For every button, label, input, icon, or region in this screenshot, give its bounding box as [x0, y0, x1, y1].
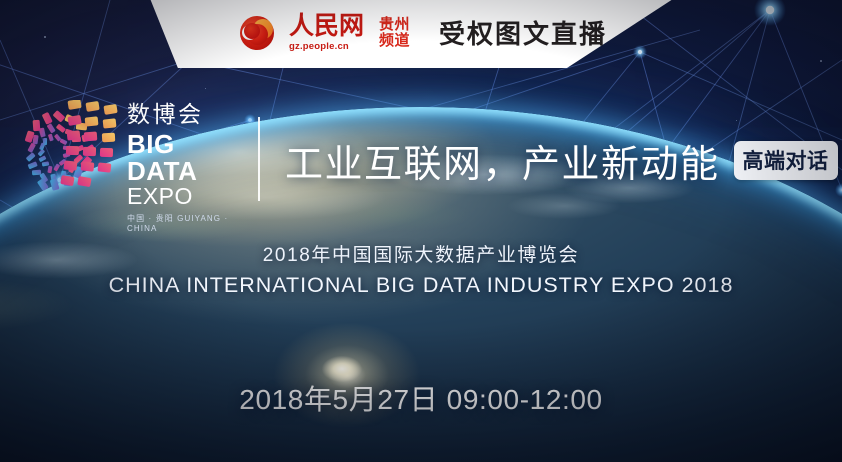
- main-title-group: 工业互联网，产业新动能 高端对话: [285, 133, 838, 188]
- peoples-daily-wordmark: 人民网 gz.people.cn: [289, 14, 364, 52]
- channel-line-2: 频道: [379, 33, 410, 49]
- page-title: 工业互联网，产业新动能: [285, 133, 720, 188]
- peoples-daily-name: 人民网: [289, 14, 364, 39]
- header-bar: 人民网 gz.people.cn 贵州 频道 受权图文直播: [145, 0, 693, 68]
- authorized-live-slogan: 受权图文直播: [439, 14, 607, 51]
- expo-location: 中国 · 贵阳 GUIYANG · CHINA: [127, 213, 252, 233]
- subtitle-en: CHINA INTERNATIONAL BIG DATA INDUSTRY EX…: [0, 273, 842, 298]
- big-data-expo-logo: 数博会 BIG DATA EXPO 中国 · 贵阳 GUIYANG · CHIN…: [22, 100, 252, 195]
- status-badge: 高端对话: [734, 141, 838, 180]
- peoples-daily-url: gz.people.cn: [289, 42, 364, 52]
- expo-name-en-line2: EXPO: [127, 185, 252, 208]
- expo-name-en-line1: BIG DATA: [127, 131, 252, 185]
- channel-line-1: 贵州: [379, 17, 410, 33]
- event-datetime: 2018年5月27日 09:00-12:00: [0, 378, 842, 418]
- guizhou-channel-label: 贵州 频道: [379, 17, 410, 49]
- expo-wordmark: 数博会 BIG DATA EXPO 中国 · 贵阳 GUIYANG · CHIN…: [127, 103, 252, 233]
- event-banner: 人民网 gz.people.cn 贵州 频道 受权图文直播: [0, 0, 842, 462]
- peoples-daily-logo-icon: [240, 16, 274, 50]
- expo-spiral-icon: [22, 100, 122, 195]
- subtitle-cn: 2018年中国国际大数据产业博览会: [0, 240, 842, 267]
- vertical-divider: [258, 117, 260, 201]
- expo-name-cn: 数博会: [127, 103, 252, 126]
